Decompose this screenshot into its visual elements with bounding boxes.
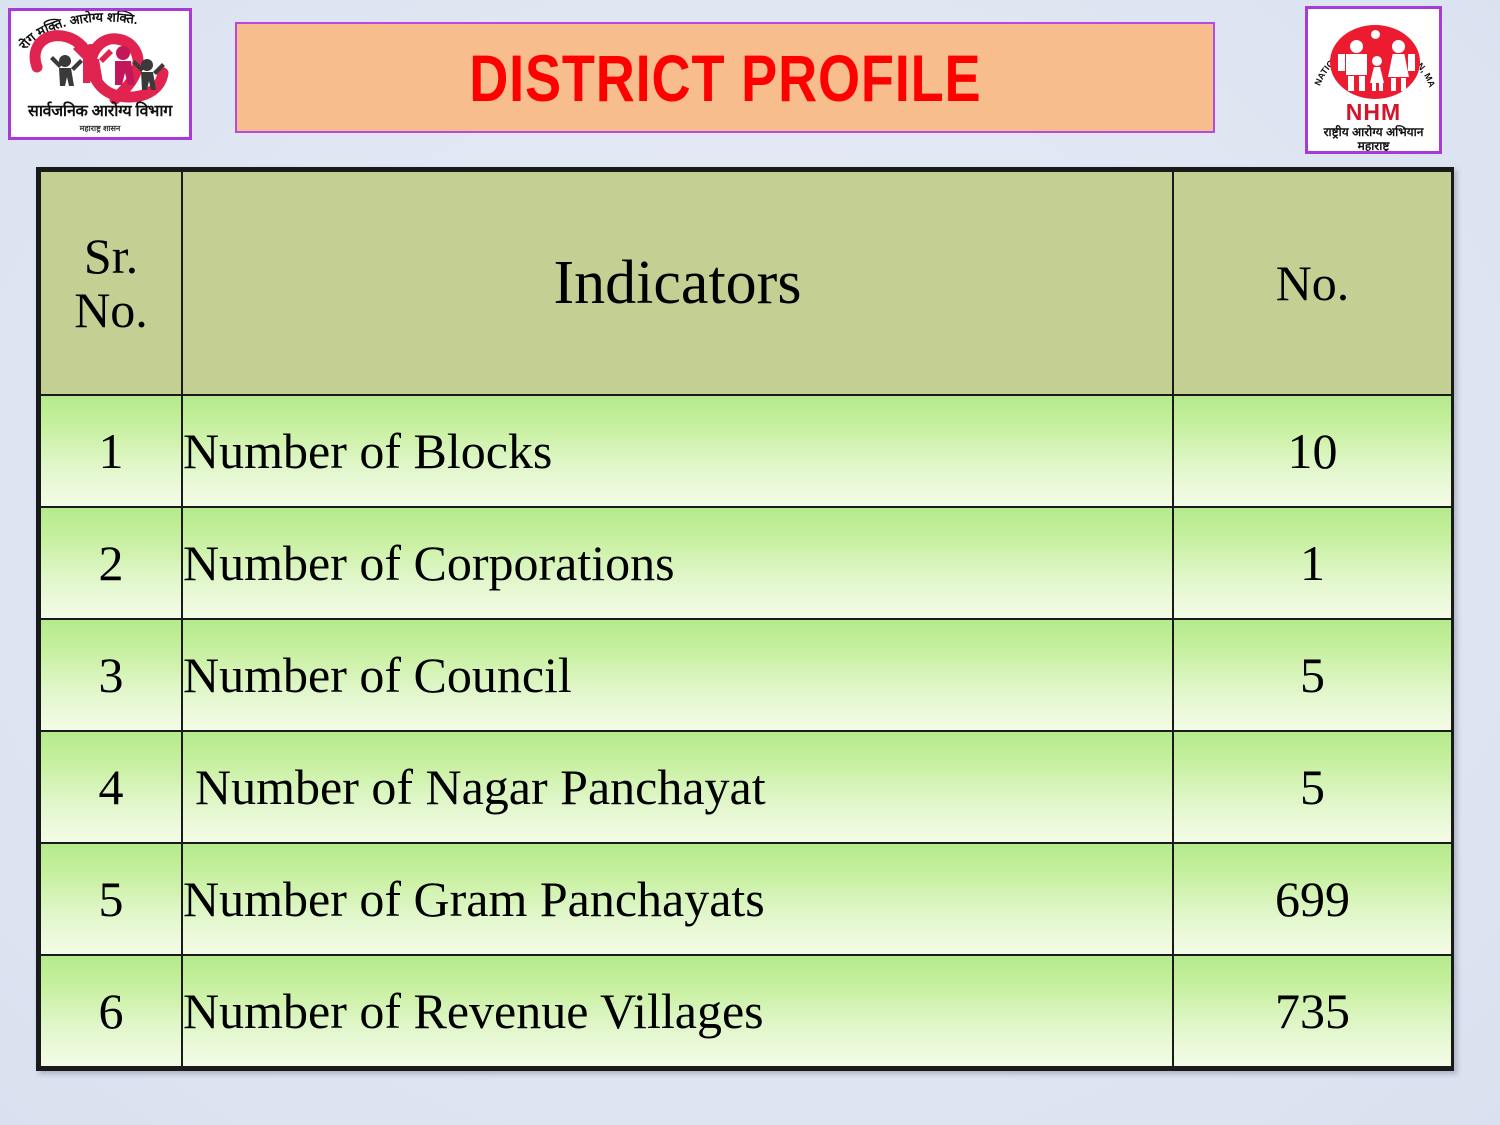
cell-indicator: Number of Council	[182, 619, 1173, 731]
cell-sr-no: 4	[40, 731, 182, 843]
district-profile-table-wrapper: Sr. No. Indicators No. 1 Number of Block…	[36, 167, 1454, 1071]
nhm-acronym: NHM	[1308, 99, 1439, 126]
column-header-sr-no-line1: Sr.	[41, 229, 181, 283]
column-header-indicators: Indicators	[182, 171, 1173, 395]
phd-caption: सार्वजनिक आरोग्य विभाग	[11, 99, 189, 121]
cell-sr-no: 2	[40, 507, 182, 619]
column-header-sr-no: Sr. No.	[40, 171, 182, 395]
cell-value: 5	[1173, 731, 1452, 843]
table-row: 5 Number of Gram Panchayats 699	[40, 843, 1452, 955]
cell-indicator: Number of Revenue Villages	[182, 955, 1173, 1067]
father-head-icon	[1350, 40, 1363, 53]
cell-sr-no: 5	[40, 843, 182, 955]
phd-subcaption: महाराष्ट्र शासन	[11, 123, 189, 134]
father-leg-left-icon	[1348, 76, 1354, 91]
mother-head-icon	[1392, 40, 1405, 53]
cell-indicator: Number of Gram Panchayats	[182, 843, 1173, 955]
nhm-logo: NATIONAL HEALTH MISSION, MAHARASHTRA NHM	[1305, 6, 1442, 154]
nhm-devanagari-line2: महाराष्ट्र	[1308, 137, 1439, 154]
cell-value: 10	[1173, 395, 1452, 507]
mother-leg-right-icon	[1401, 78, 1406, 91]
mother-arm-icon	[1408, 54, 1415, 71]
mother-leg-left-icon	[1391, 78, 1396, 91]
header-band: रोग मुक्ति. आरोग्य शक्ति.	[0, 0, 1500, 155]
cell-sr-no: 1	[40, 395, 182, 507]
table-row: 6 Number of Revenue Villages 735	[40, 955, 1452, 1067]
cell-sr-no: 6	[40, 955, 182, 1067]
table-row: 2 Number of Corporations 1	[40, 507, 1452, 619]
cell-sr-no: 3	[40, 619, 182, 731]
table-header-row: Sr. No. Indicators No.	[40, 171, 1452, 395]
column-header-sr-no-line2: No.	[41, 283, 181, 337]
public-health-department-logo: रोग मुक्ति. आरोग्य शक्ति.	[8, 8, 192, 140]
slide-title-box: DISTRICT PROFILE	[235, 22, 1215, 133]
child-head-icon	[1372, 56, 1382, 66]
table-row: 1 Number of Blocks 10	[40, 395, 1452, 507]
column-header-no: No.	[1173, 171, 1452, 395]
father-body-icon	[1346, 54, 1367, 75]
cell-value: 735	[1173, 955, 1452, 1067]
cell-value: 5	[1173, 619, 1452, 731]
cell-indicator: Number of Corporations	[182, 507, 1173, 619]
sun-icon	[1371, 30, 1380, 39]
district-profile-table: Sr. No. Indicators No. 1 Number of Block…	[39, 170, 1453, 1068]
heart-family-icon	[25, 27, 175, 109]
father-arm-icon	[1338, 54, 1345, 71]
father-leg-right-icon	[1359, 76, 1365, 91]
table-row: 3 Number of Council 5	[40, 619, 1452, 731]
page-title: DISTRICT PROFILE	[469, 40, 981, 116]
cell-value: 699	[1173, 843, 1452, 955]
cell-indicator: Number of Blocks	[182, 395, 1173, 507]
cell-value: 1	[1173, 507, 1452, 619]
cell-indicator: Number of Nagar Panchayat	[182, 731, 1173, 843]
child-leg-right-icon	[1379, 83, 1383, 91]
child-leg-left-icon	[1372, 83, 1376, 91]
table-row: 4 Number of Nagar Panchayat 5	[40, 731, 1452, 843]
